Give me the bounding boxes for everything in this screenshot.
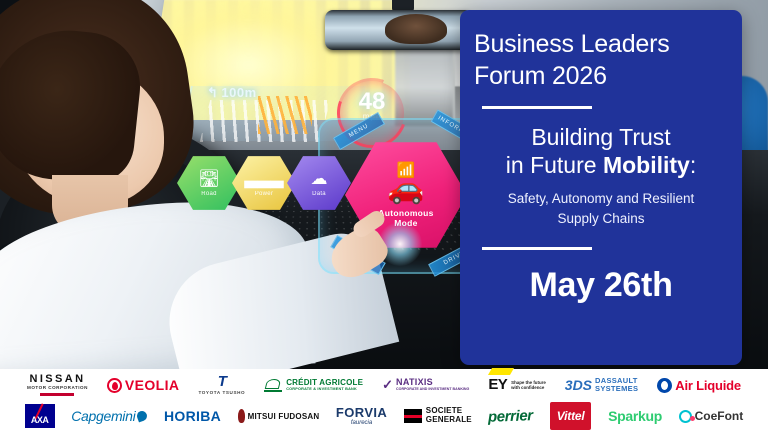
logo-veolia[interactable]: VEOLIA xyxy=(107,371,180,399)
event-title: Business Leaders Forum 2026 xyxy=(474,28,728,92)
toyota-tsusho-mark-icon: T xyxy=(218,374,226,389)
sponsor-logo-bar: NISSAN MOTOR CORPORATION VEOLIA T TOYOTA… xyxy=(0,369,768,432)
cloud-icon: ☁ xyxy=(311,170,328,187)
logo-toyota-tsusho[interactable]: T TOYOTA TSUSHO xyxy=(198,371,245,399)
capgemini-mark-icon xyxy=(136,410,149,423)
mirror-reflection-head xyxy=(385,14,447,44)
nissan-bar-icon xyxy=(40,393,74,396)
logo-horiba[interactable]: HORIBA xyxy=(164,402,221,430)
hud-tile-road-label: Road xyxy=(201,191,217,197)
logo-natixis[interactable]: ✓ NATIXIS CORPORATE AND INVESTMENT BANKI… xyxy=(382,371,469,399)
logo-nissan[interactable]: NISSAN MOTOR CORPORATION xyxy=(27,371,88,399)
hud-tile-power-label: Power xyxy=(255,191,274,197)
date-divider xyxy=(482,247,592,250)
theme-prefix: in Future xyxy=(506,152,603,178)
battery-icon: ▃▃▃ xyxy=(244,170,283,187)
logo-perrier[interactable]: perrier xyxy=(488,402,533,430)
driver-hair-front xyxy=(0,23,145,188)
logo-nissan-text: NISSAN xyxy=(29,374,85,385)
logo-credit-agricole-text: CRÉDIT AGRICOLE xyxy=(286,379,363,387)
logo-societe-generale-subtext: GENERALE xyxy=(426,416,472,425)
theme-keyword: Mobility xyxy=(603,152,690,178)
logo-axa[interactable]: AXA xyxy=(25,404,55,428)
logo-coefont-text: CoeFont xyxy=(695,409,744,423)
event-subtitle-line1: Safety, Autonomy and Resilient xyxy=(474,189,728,209)
societe-generale-mark-icon xyxy=(404,409,422,423)
logo-natixis-subtext: CORPORATE AND INVESTMENT BANKING xyxy=(396,388,469,392)
event-title-line1: Business Leaders xyxy=(474,28,728,60)
logo-vittel-text: Vittel xyxy=(557,409,585,423)
logo-mitsui-fudosan[interactable]: MITSUI FUDOSAN xyxy=(238,402,320,430)
hud-route-highlight xyxy=(258,96,312,134)
sponsor-row-1: NISSAN MOTOR CORPORATION VEOLIA T TOYOTA… xyxy=(0,370,768,401)
title-divider xyxy=(482,106,592,109)
turn-arrow-icon: ↰ xyxy=(207,85,218,101)
logo-forvia-text: FORVIA xyxy=(336,406,387,419)
logo-air-liquide[interactable]: Air Liquide xyxy=(657,371,741,399)
natixis-mark-icon: ✓ xyxy=(382,377,393,393)
mitsui-mark-icon xyxy=(238,409,245,423)
credit-agricole-mark-icon xyxy=(264,378,282,392)
logo-veolia-text: VEOLIA xyxy=(125,377,180,393)
logo-forvia-subtext: faurecia xyxy=(351,420,372,426)
event-panel: Business Leaders Forum 2026 Building Tru… xyxy=(460,10,742,365)
logo-dassault-subtext: SYSTEMES xyxy=(595,385,638,393)
autonomous-mode-line1: Autonomous xyxy=(378,208,433,218)
car-icon: 🚗 xyxy=(387,174,424,204)
logo-credit-agricole-subtext: CORPORATE & INVESTMENT BANK xyxy=(286,387,363,391)
air-liquide-mark-icon xyxy=(657,378,672,393)
event-subtitle-line2: Supply Chains xyxy=(474,209,728,229)
logo-nissan-subtext: MOTOR CORPORATION xyxy=(27,386,88,391)
event-date: May 26th xyxy=(474,266,728,305)
logo-perrier-text: perrier xyxy=(488,407,533,426)
sponsor-row-2: AXA Capgemini HORIBA MITSUI FUDOSAN FORV… xyxy=(0,401,768,432)
event-theme-line1: Building Trust xyxy=(474,123,728,151)
logo-horiba-text: HORIBA xyxy=(164,408,221,424)
logo-ey-text: EY xyxy=(488,376,507,393)
dassault-mark-icon: 3DS xyxy=(565,377,592,393)
logo-ey-tagline2: with confidence xyxy=(511,385,546,391)
slide-canvas: ↰100m 48 mph 🛣 Road ▃▃▃ Power xyxy=(0,0,768,432)
logo-capgemini-text: Capgemini xyxy=(71,408,135,424)
hud-tile-data-label: Data xyxy=(312,191,326,197)
logo-dassault-systemes[interactable]: 3DS DASSAULT SYSTEMES xyxy=(565,371,638,399)
logo-societe-generale[interactable]: SOCIETE GENERALE xyxy=(404,402,472,430)
logo-coefont[interactable]: CoeFont xyxy=(679,402,744,430)
logo-vittel[interactable]: Vittel xyxy=(550,402,592,430)
hud-distance-value: 100m xyxy=(221,85,256,100)
event-title-line2: Forum 2026 xyxy=(474,60,728,92)
logo-credit-agricole[interactable]: CRÉDIT AGRICOLE CORPORATE & INVESTMENT B… xyxy=(264,371,363,399)
theme-suffix: : xyxy=(690,152,696,178)
road-icon: 🛣 xyxy=(198,170,220,187)
veolia-mark-icon xyxy=(107,378,122,393)
logo-ey[interactable]: EY Shape the future with confidence xyxy=(488,371,545,399)
hud-distance-readout: ↰100m xyxy=(207,85,257,101)
logo-sparkup-text: Sparkup xyxy=(608,408,662,424)
coefont-mark-icon xyxy=(679,410,692,423)
logo-forvia[interactable]: FORVIA faurecia xyxy=(336,402,387,430)
event-subtitle: Safety, Autonomy and Resilient Supply Ch… xyxy=(474,189,728,230)
logo-sparkup[interactable]: Sparkup xyxy=(608,402,662,430)
logo-capgemini[interactable]: Capgemini xyxy=(71,402,147,430)
logo-mitsui-fudosan-text: MITSUI FUDOSAN xyxy=(248,412,320,421)
logo-air-liquide-text: Air Liquide xyxy=(675,378,741,393)
event-theme-line2: in Future Mobility: xyxy=(462,152,740,180)
ey-beam-icon xyxy=(488,368,514,375)
logo-axa-text: AXA xyxy=(25,415,55,425)
logo-toyota-tsusho-text: TOYOTA TSUSHO xyxy=(198,391,245,396)
